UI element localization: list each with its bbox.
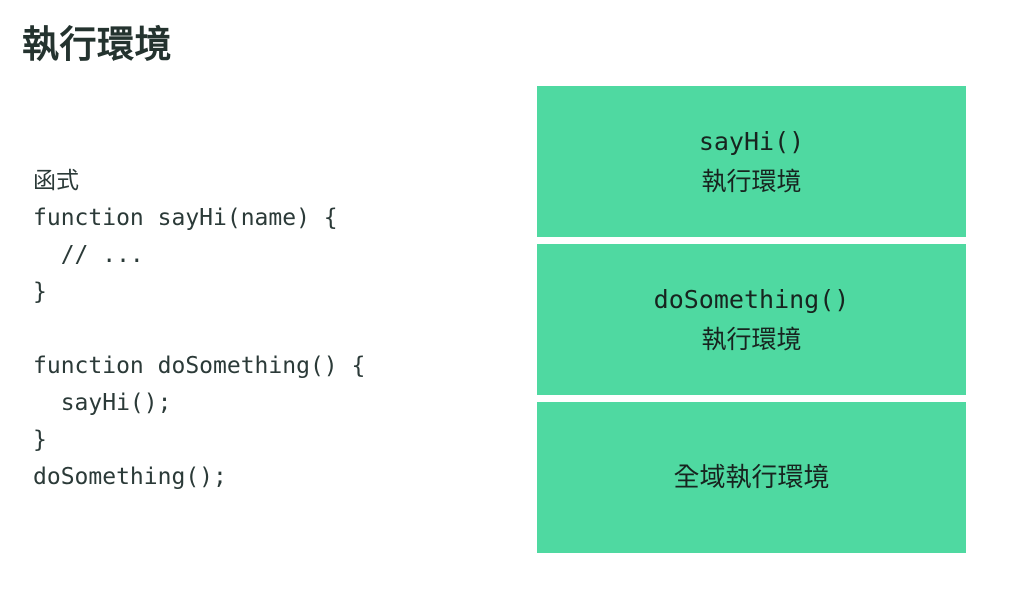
global-execution-context-box: 全域執行環境 [537,402,966,553]
context-function-name: doSomething() [654,280,850,320]
code-caption: 函式 [33,163,503,200]
context-label: 全域執行環境 [673,458,829,498]
code-line: sayHi(); [33,385,503,422]
code-panel: 函式 function sayHi(name) { // ...}functio… [33,163,503,496]
execution-context-stack: sayHi() 執行環境 doSomething() 執行環境 全域執行環境 [537,86,966,553]
code-line: doSomething(); [33,459,503,496]
code-line: // ... [33,237,503,274]
code-block: function sayHi(name) { // ...}function d… [33,200,503,496]
sayhi-execution-context-box: sayHi() 執行環境 [537,86,966,237]
code-line: function doSomething() { [33,348,503,385]
code-line-blank [33,311,503,348]
context-function-name: sayHi() [699,122,804,162]
slide-canvas: 執行環境 函式 function sayHi(name) { // ...}fu… [0,0,1024,589]
code-line: function sayHi(name) { [33,200,503,237]
page-title: 執行環境 [22,22,172,68]
context-label: 執行環境 [701,162,801,202]
context-label: 執行環境 [701,320,801,360]
code-line: } [33,274,503,311]
dosomething-execution-context-box: doSomething() 執行環境 [537,244,966,395]
code-line: } [33,422,503,459]
